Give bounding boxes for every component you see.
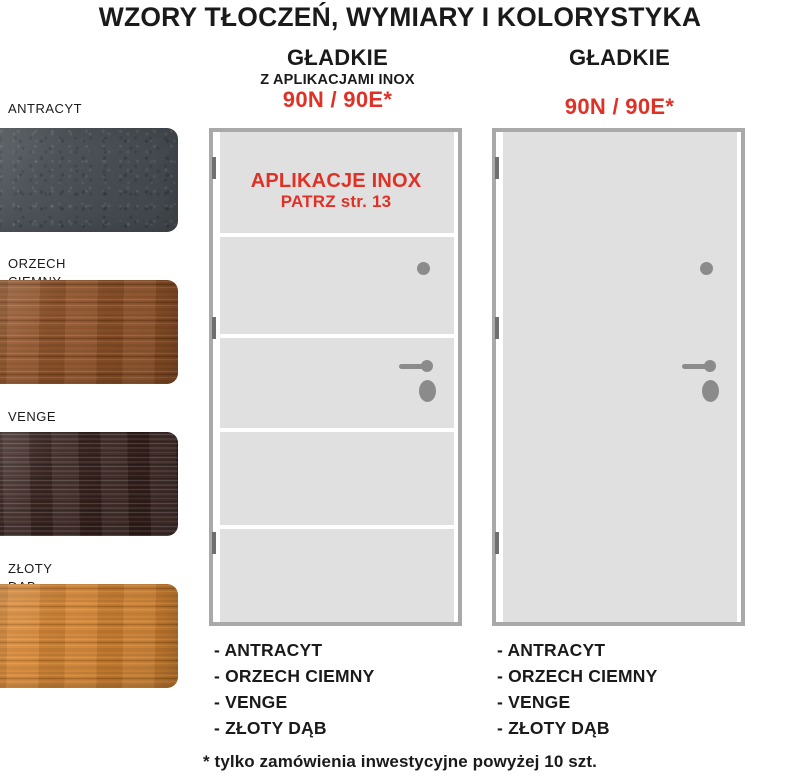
inox-strip-1 xyxy=(220,233,454,237)
peephole-icon xyxy=(700,262,713,275)
list-item: - ORZECH CIEMNY xyxy=(214,663,375,689)
lock-cylinder-icon[interactable] xyxy=(419,380,436,402)
hinge-top-icon xyxy=(212,157,216,179)
list-item: - ORZECH CIEMNY xyxy=(497,663,658,689)
hinge-middle-icon xyxy=(212,317,216,339)
column-2-color-list: - ANTRACYT - ORZECH CIEMNY - VENGE - ZŁO… xyxy=(497,637,658,741)
footnote-text: * tylko zamówienia inwestycyjne powyżej … xyxy=(0,752,800,772)
swatch-sheen xyxy=(0,584,178,688)
swatch-label-antracyt: ANTRACYT xyxy=(8,100,82,118)
hinge-bottom-icon xyxy=(212,532,216,554)
list-item: - ANTRACYT xyxy=(214,637,375,663)
page-title: WZORY TŁOCZEŃ, WYMIARY I KOLORYSTYKA xyxy=(0,2,800,33)
swatch-venge[interactable] xyxy=(0,432,178,536)
column-2-heading: GŁADKIE xyxy=(487,46,752,69)
callout-line-2: PATRZ str. 13 xyxy=(220,192,452,212)
lock-cylinder-icon[interactable] xyxy=(702,380,719,402)
handle-knob-icon[interactable] xyxy=(704,360,716,372)
swatch-sheen xyxy=(0,280,178,384)
hinge-bottom-icon xyxy=(495,532,499,554)
swatch-orzech-ciemny[interactable] xyxy=(0,280,178,384)
column-2-header: GŁADKIE 90N / 90E* xyxy=(487,46,752,118)
callout-line-1: APLIKACJE INOX xyxy=(220,170,452,192)
column-1-subheading: Z APLIKACJAMI INOX xyxy=(205,73,470,88)
list-item: - ZŁOTY DĄB xyxy=(214,715,375,741)
column-1-header: GŁADKIE Z APLIKACJAMI INOX 90N / 90E* xyxy=(205,46,470,111)
swatch-label-venge: VENGE xyxy=(8,408,56,426)
hinge-top-icon xyxy=(495,157,499,179)
peephole-icon xyxy=(417,262,430,275)
swatch-zloty-dab[interactable] xyxy=(0,584,178,688)
inox-strip-4 xyxy=(220,525,454,529)
swatch-sheen xyxy=(0,128,178,232)
column-2-code: 90N / 90E* xyxy=(487,95,752,118)
door-1-inox-callout: APLIKACJE INOX PATRZ str. 13 xyxy=(220,170,452,212)
column-1-code: 90N / 90E* xyxy=(205,88,470,111)
inox-strip-3 xyxy=(220,428,454,432)
door-2-frame[interactable] xyxy=(492,128,745,626)
handle-knob-icon[interactable] xyxy=(421,360,433,372)
swatch-antracyt[interactable] xyxy=(0,128,178,232)
door-2-leaf[interactable] xyxy=(503,132,737,622)
swatch-sheen xyxy=(0,432,178,536)
list-item: - VENGE xyxy=(497,689,658,715)
list-item: - ZŁOTY DĄB xyxy=(497,715,658,741)
column-1-heading: GŁADKIE xyxy=(205,46,470,69)
inox-strip-2 xyxy=(220,334,454,338)
hinge-middle-icon xyxy=(495,317,499,339)
list-item: - ANTRACYT xyxy=(497,637,658,663)
column-1-color-list: - ANTRACYT - ORZECH CIEMNY - VENGE - ZŁO… xyxy=(214,637,375,741)
list-item: - VENGE xyxy=(214,689,375,715)
